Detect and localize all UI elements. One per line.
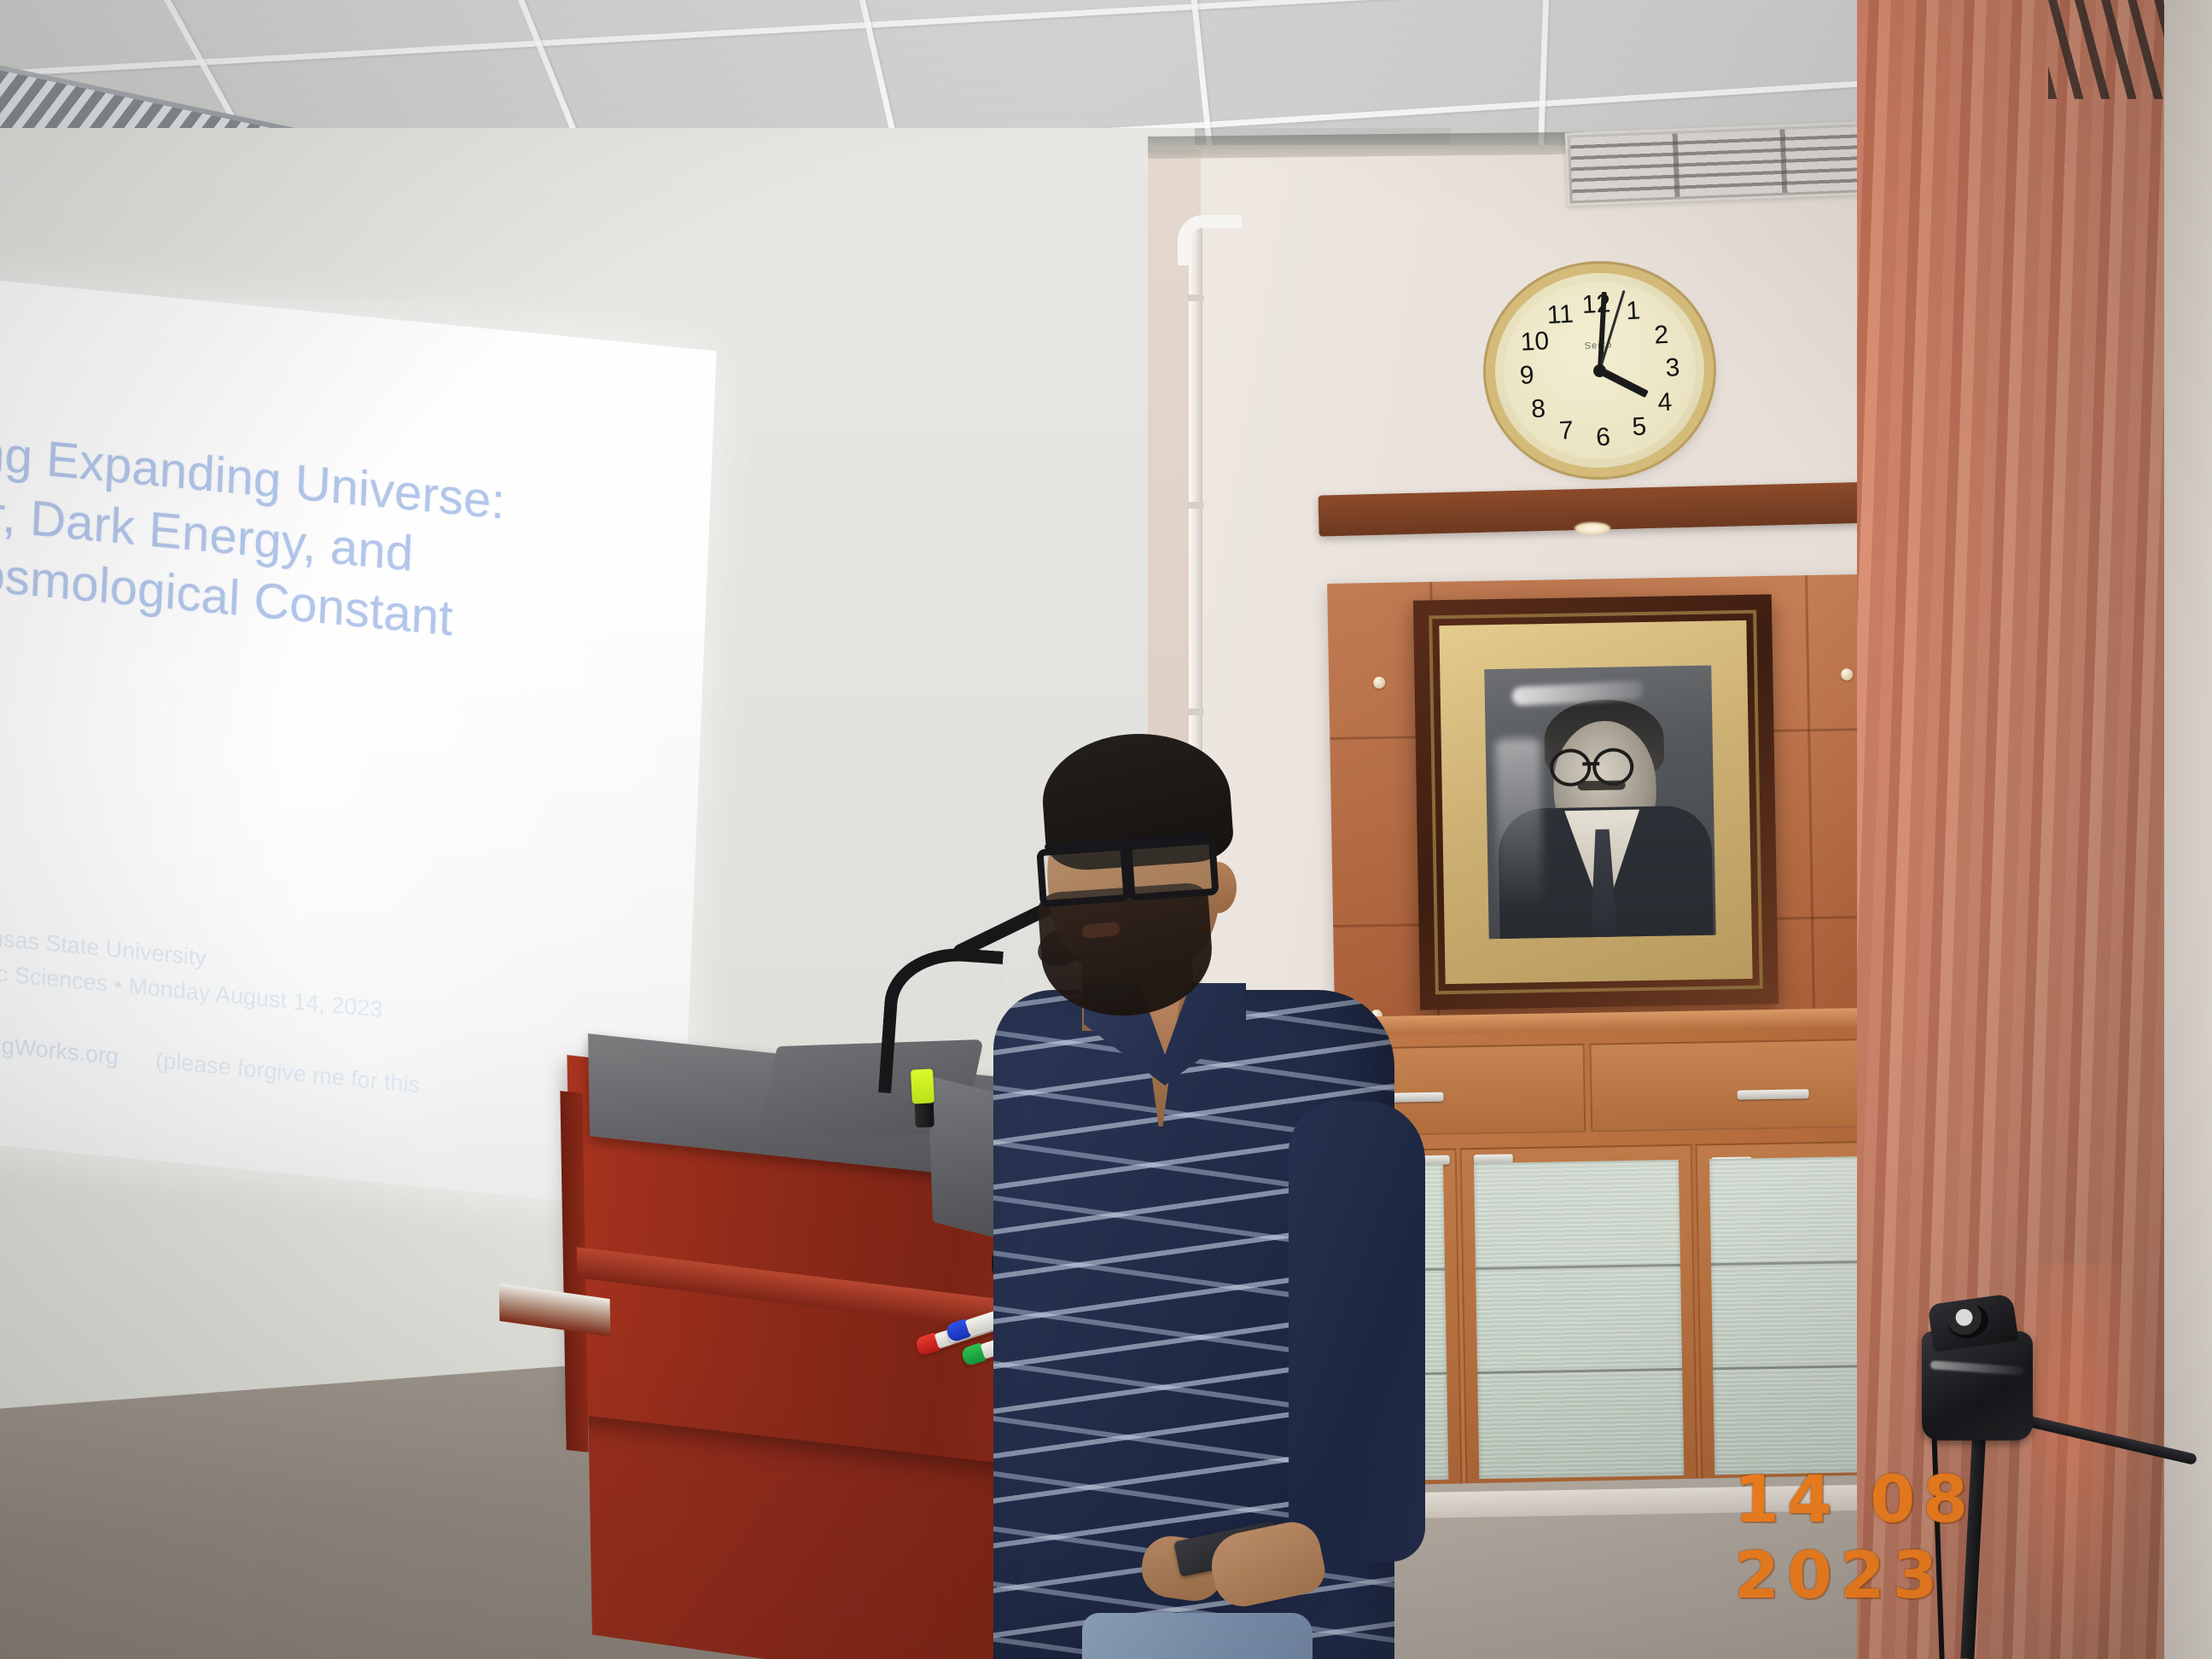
slide-url-text: …GlobalWarmingWorks.org: [0, 1017, 119, 1070]
clock-numeral-1: 1: [1625, 297, 1640, 327]
glasses-right-lens: [1125, 837, 1219, 901]
clock-numeral-2: 2: [1653, 320, 1668, 350]
conduit-clip: [1187, 294, 1204, 301]
speaker-jeans: [1082, 1613, 1313, 1659]
panel-stud: [1373, 677, 1385, 689]
framed-portrait: [1413, 594, 1778, 1010]
clock-numeral-4: 4: [1657, 387, 1673, 417]
clock-numeral-10: 10: [1520, 327, 1550, 358]
wall-far-right: [2164, 0, 2212, 1659]
slide-title: …rating Expanding Universe: …atter, Dark…: [0, 411, 719, 673]
speaker-right-arm: [1289, 1101, 1425, 1562]
clock-numeral-6: 6: [1595, 423, 1610, 453]
conduit-elbow: [1178, 215, 1242, 265]
photo-canvas: …rating Expanding Universe: …atter, Dark…: [0, 0, 2212, 1659]
conduit-clip: [1187, 708, 1204, 715]
speaker-glasses: [1036, 837, 1218, 898]
conduit-clip: [1187, 502, 1204, 509]
microphone-yellow-tape: [911, 1068, 934, 1103]
panel-stud: [1841, 668, 1853, 680]
clock-numeral-5: 5: [1632, 412, 1647, 442]
portrait-photograph: [1484, 666, 1715, 940]
drawer-handle[interactable]: [1737, 1089, 1808, 1099]
portrait-mat: [1439, 620, 1752, 984]
cabinet-glass-pane: [1474, 1160, 1684, 1479]
clock-numeral-12: 12: [1581, 289, 1611, 320]
canopy-lamp-icon: [1575, 522, 1610, 534]
glasses-left-lens: [1036, 843, 1130, 907]
hvac-vent-grille: [1564, 119, 1904, 206]
slide-url-note: (please forgive me for this: [155, 1047, 421, 1097]
cabinet-door-center[interactable]: [1460, 1144, 1698, 1493]
clock-center-pin: [1593, 364, 1607, 377]
clock-face: Seiko 12 1 2 3 4 5 6 7 8 9 10 11: [1499, 276, 1701, 463]
clock-numeral-9: 9: [1519, 361, 1534, 391]
clock-numeral-7: 7: [1558, 416, 1574, 445]
portrait-glass-glare: [1494, 738, 1543, 910]
clock-numeral-11: 11: [1546, 300, 1575, 331]
clock-numeral-8: 8: [1530, 394, 1545, 424]
speaker-person: [981, 734, 1425, 1659]
portrait-moustache: [1578, 780, 1626, 790]
clock-numeral-3: 3: [1665, 353, 1680, 383]
portrait-glasses-bridge: [1582, 762, 1599, 765]
date-stamp-overlay: 14 08 2023: [1734, 1461, 2212, 1613]
